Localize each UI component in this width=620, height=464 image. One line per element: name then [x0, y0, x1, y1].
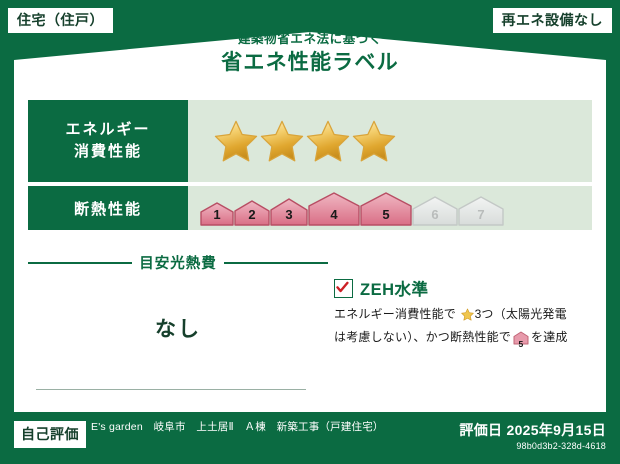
footer: 自己評価 E's garden 岐阜市 上土居Ⅱ Ａ棟 新築工事（戸建住宅） 評…: [14, 420, 606, 456]
star-icon: [214, 119, 258, 163]
insulation-level-4: 4: [308, 190, 360, 226]
evaluation-info: 評価日 2025年9月15日 98b0d3b2-328d-4618: [459, 420, 606, 451]
zeh-desc-part2: は考慮しない）、かつ断熱性能で: [334, 330, 511, 344]
zeh-desc-part3: を達成: [531, 330, 568, 344]
utility-cost-section: 目安光熱費 なし: [28, 250, 328, 404]
title-subtitle: 建築物省エネ法に基づく: [0, 33, 620, 47]
evaluation-id: 98b0d3b2-328d-4618: [459, 441, 606, 451]
performance-rows: エネルギー 消費性能 断熱性能 1234567: [28, 100, 592, 234]
rule-right: [224, 262, 328, 264]
star-icon: [306, 119, 350, 163]
insulation-level-label: 5: [360, 207, 412, 222]
insulation-level-scale: 1234567: [200, 190, 504, 226]
badge-renewable-equipment: 再エネ設備なし: [493, 8, 613, 33]
check-icon: [336, 281, 349, 294]
row-energy-value: [188, 100, 592, 182]
insulation-level-3: 3: [270, 190, 308, 226]
utility-cost-heading: 目安光熱費: [28, 250, 328, 273]
energy-performance-label: 住宅（住戸） 再エネ設備なし 建築物省エネ法に基づく 省エネ性能ラベル エネルギ…: [0, 0, 620, 464]
zeh-heading: ZEH水準: [334, 276, 592, 300]
insulation-level-label: 7: [458, 207, 504, 222]
utility-cost-title: 目安光熱費: [139, 252, 217, 273]
insulation-level-label: 1: [200, 207, 234, 222]
insulation-level-1: 1: [200, 190, 234, 226]
insulation-level-label: 6: [412, 207, 458, 222]
insulation-level-5: 5: [360, 190, 412, 226]
row-insulation-value: 1234567: [188, 186, 592, 230]
evaluation-date: 評価日 2025年9月15日: [459, 420, 606, 440]
row-energy-label: エネルギー 消費性能: [28, 100, 188, 182]
house-icon-inline-level: 5: [513, 337, 529, 351]
zeh-desc-part1: エネルギー消費性能で: [334, 307, 456, 321]
insulation-level-2: 2: [234, 190, 270, 226]
house-icon-inline: 5: [513, 331, 529, 352]
utility-cost-underline: [36, 389, 306, 390]
row-energy-label-line1: エネルギー: [65, 119, 150, 142]
star-icon: [260, 119, 304, 163]
star-icon: [352, 119, 396, 163]
zeh-desc-star-count: 3つ（太陽光発電: [475, 307, 567, 321]
zeh-description: エネルギー消費性能で 3つ（太陽光発電 は考慮しない）、かつ断熱性能で 5を達成: [334, 305, 592, 352]
row-insulation-label: 断熱性能: [28, 186, 188, 230]
insulation-level-6: 6: [412, 190, 458, 226]
zeh-section: ZEH水準 エネルギー消費性能で 3つ（太陽光発電 は考慮しない）、かつ断熱性能…: [328, 250, 592, 404]
row-energy-performance: エネルギー 消費性能: [28, 100, 592, 182]
self-evaluation-badge: 自己評価: [14, 421, 86, 448]
page-title: 省エネ性能ラベル: [0, 49, 620, 77]
utility-cost-value: なし: [28, 313, 328, 343]
star-icon-inline: [457, 310, 474, 324]
property-name: E's garden 岐阜市 上土居Ⅱ Ａ棟 新築工事（戸建住宅）: [91, 420, 451, 434]
label-title-block: 建築物省エネ法に基づく 省エネ性能ラベル: [0, 33, 620, 77]
row-energy-label-line2: 消費性能: [74, 141, 142, 164]
zeh-title: ZEH水準: [360, 276, 429, 300]
insulation-level-label: 3: [270, 207, 308, 222]
insulation-level-label: 2: [234, 207, 270, 222]
insulation-level-7: 7: [458, 190, 504, 226]
zeh-checkbox[interactable]: [334, 279, 353, 298]
badge-building-type: 住宅（住戸）: [8, 8, 113, 33]
insulation-level-label: 4: [308, 207, 360, 222]
star-rating: [214, 119, 396, 163]
row-insulation-performance: 断熱性能 1234567: [28, 186, 592, 230]
lower-section: 目安光熱費 なし ZEH水準 エネルギー消費性能で 3つ（太陽光発電: [28, 250, 592, 404]
rule-left: [28, 262, 132, 264]
